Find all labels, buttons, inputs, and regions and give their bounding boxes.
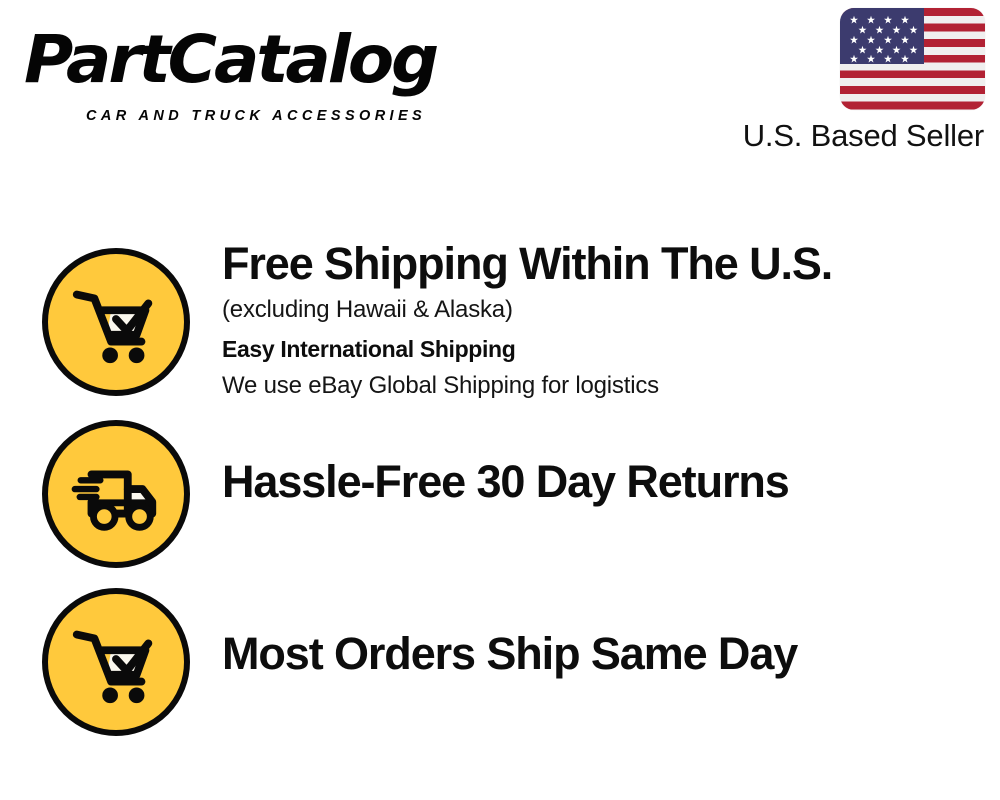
- feature-subtitle: (excluding Hawaii & Alaska): [222, 294, 980, 326]
- feature-text-block: Free Shipping Within The U.S. (excluding…: [222, 238, 980, 402]
- feature-sub-detail: We use eBay Global Shipping for logistic…: [222, 370, 980, 402]
- feature-row: Hassle-Free 30 Day Returns: [0, 410, 1000, 582]
- feature-row: Most Orders Ship Same Day: [0, 580, 1000, 752]
- feature-sub-heading: Easy International Shipping: [222, 332, 980, 366]
- promo-banner: PartCatalog CAR AND TRUCK ACCESSORIES: [0, 0, 1000, 800]
- shopping-cart-check-icon: [42, 588, 190, 736]
- feature-text-block: Hassle-Free 30 Day Returns: [222, 456, 980, 508]
- delivery-truck-icon: [42, 420, 190, 568]
- feature-title: Most Orders Ship Same Day: [222, 628, 980, 680]
- feature-list: Free Shipping Within The U.S. (excluding…: [0, 0, 1000, 800]
- shopping-cart-check-icon: [42, 248, 190, 396]
- feature-row: Free Shipping Within The U.S. (excluding…: [0, 238, 1000, 410]
- feature-title: Hassle-Free 30 Day Returns: [222, 456, 980, 508]
- feature-text-block: Most Orders Ship Same Day: [222, 628, 980, 680]
- feature-title: Free Shipping Within The U.S.: [222, 238, 980, 290]
